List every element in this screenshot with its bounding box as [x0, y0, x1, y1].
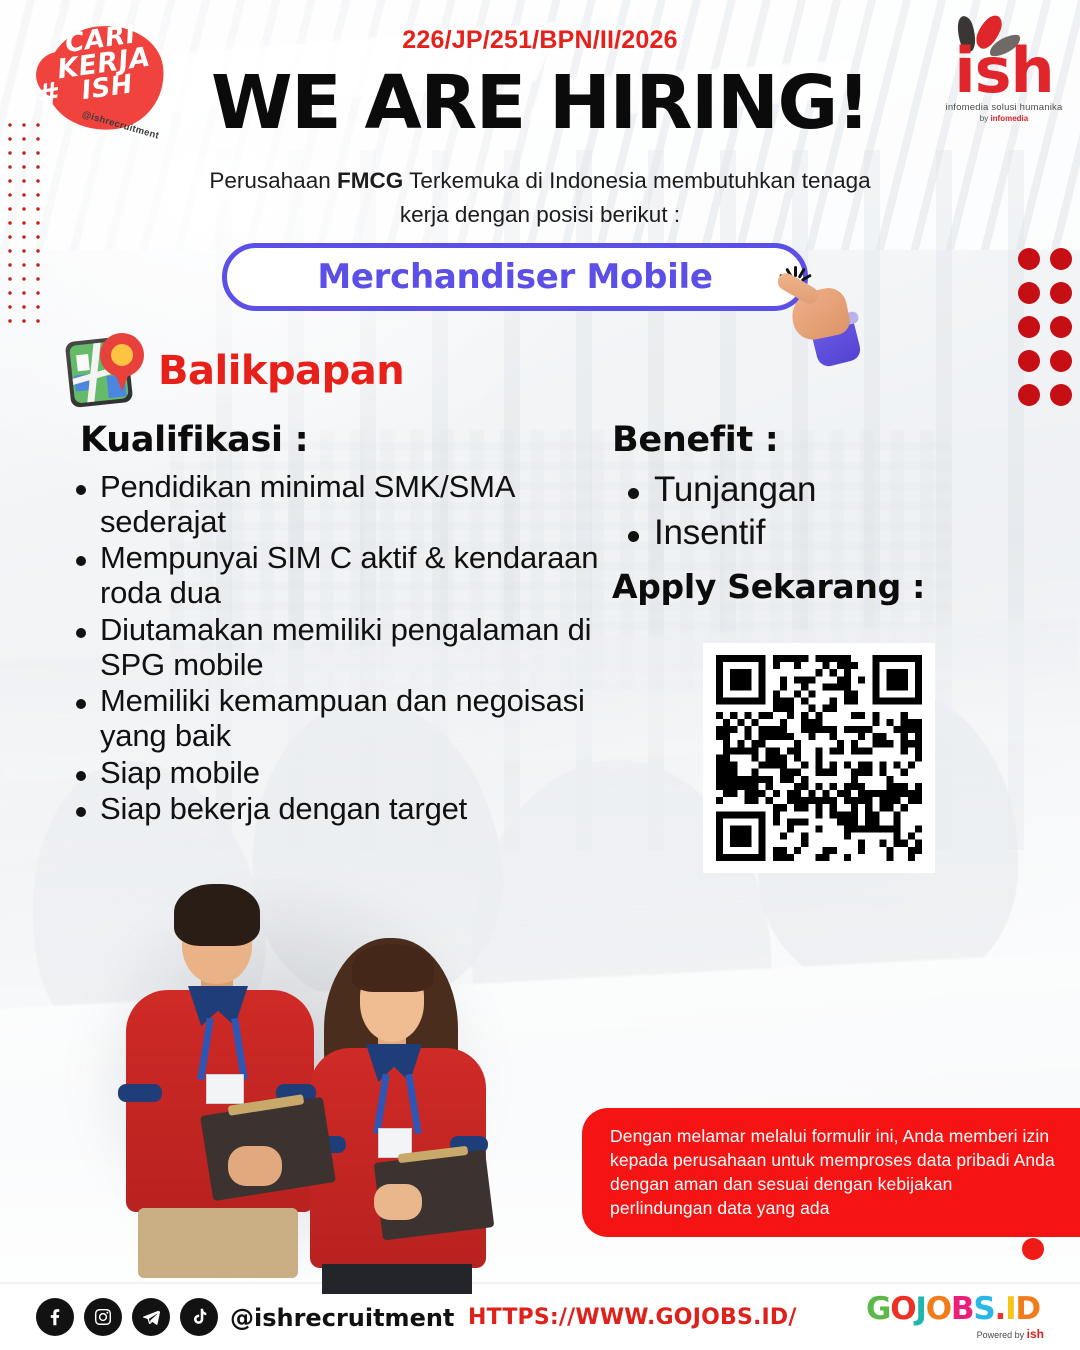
qualifications-title: Kualifikasi : [80, 420, 602, 460]
position-title: Merchandiser Mobile [317, 257, 712, 297]
benefit-item: Tunjangan [612, 470, 1012, 509]
job-poster: # CARI KERJA ISH @ishrecruitment ish inf… [0, 0, 1080, 1350]
decorative-dot [1050, 316, 1072, 338]
qualification-item: Pendidikan minimal SMK/SMA sederajat [62, 470, 602, 539]
social-handle: @ishrecruitment [230, 1304, 454, 1332]
gojobs-letter: G [866, 1294, 890, 1325]
apply-now-title: Apply Sekarang : [612, 567, 925, 606]
qr-code[interactable] [715, 655, 923, 861]
powered-by-prefix: Powered by [977, 1330, 1027, 1340]
page-title: WE ARE HIRING! [0, 60, 1080, 146]
gojobs-letter: J [915, 1294, 925, 1325]
subtitle-pre: Perusahaan [209, 168, 337, 193]
map-location-icon [62, 331, 148, 413]
gojobs-wordmark: GOJOBS.ID [866, 1294, 1046, 1325]
benefit-item: Insentif [612, 513, 1012, 552]
decorative-dot [1018, 350, 1040, 372]
gojobs-letter: . [994, 1294, 1005, 1325]
qualification-item: Diutamakan memiliki pengalaman di SPG mo… [62, 613, 602, 682]
gojobs-letter: O [890, 1294, 915, 1325]
subtitle-line-1: Perusahaan FMCG Terkemuka di Indonesia m… [0, 168, 1080, 194]
gojobs-letter: B [951, 1294, 973, 1325]
gojobs-letter: I [1005, 1294, 1015, 1325]
powered-by-ish: ish [1027, 1327, 1044, 1341]
employees-photo [78, 878, 498, 1278]
qualification-item: Memiliki kemampuan dan negoisasi yang ba… [62, 684, 602, 753]
facebook-icon[interactable] [36, 1298, 74, 1336]
website-url[interactable]: HTTPS://WWW.GOJOBS.ID/ [468, 1305, 797, 1330]
gojobs-powered-by: Powered by ish [866, 1327, 1046, 1341]
reference-number: 226/JP/251/BPN/II/2026 [0, 26, 1080, 55]
data-privacy-disclaimer: Dengan melamar melalui formulir ini, And… [582, 1108, 1080, 1237]
qualifications-section: Kualifikasi : Pendidikan minimal SMK/SMA… [62, 420, 602, 829]
gojobs-letter: S [973, 1294, 994, 1325]
decorative-dot [1050, 384, 1072, 406]
decorative-dot [1050, 282, 1072, 304]
decorative-dot [1018, 384, 1040, 406]
pointing-hand-cursor-icon [770, 258, 866, 368]
qualifications-list: Pendidikan minimal SMK/SMA sederajatMemp… [62, 470, 602, 827]
tiktok-icon[interactable] [180, 1298, 218, 1336]
decorative-dot [1050, 248, 1072, 270]
subtitle-line-2: kerja dengan posisi berikut : [0, 202, 1080, 228]
dot-pattern-right [1018, 248, 1072, 404]
location-city: Balikpapan [158, 348, 404, 394]
gojobs-letter: D [1015, 1294, 1040, 1325]
qr-code-container[interactable] [703, 643, 935, 873]
decorative-dot [1050, 350, 1072, 372]
qualification-item: Mempunyai SIM C aktif & kendaraan roda d… [62, 541, 602, 610]
gojobs-logo: GOJOBS.ID Powered by ish [866, 1294, 1046, 1346]
instagram-icon[interactable] [84, 1298, 122, 1336]
qualification-item: Siap mobile [62, 756, 602, 791]
telegram-icon[interactable] [132, 1298, 170, 1336]
decorative-dot [1018, 282, 1040, 304]
position-title-pill[interactable]: Merchandiser Mobile [222, 243, 808, 311]
decorative-dot [1018, 248, 1040, 270]
subtitle-bold-fmcg: FMCG [337, 168, 403, 193]
benefits-section: Benefit : TunjanganInsentif [612, 420, 1012, 556]
decorative-dot [1018, 316, 1040, 338]
benefits-title: Benefit : [612, 420, 1012, 460]
gojobs-letter: O [926, 1294, 951, 1325]
benefits-list: TunjanganInsentif [612, 470, 1012, 552]
subtitle-post: Terkemuka di Indonesia membutuhkan tenag… [403, 168, 870, 193]
dot-accent-bottom-right [1022, 1238, 1044, 1260]
footer-divider [0, 1282, 1080, 1284]
qualification-item: Siap bekerja dengan target [62, 792, 602, 827]
